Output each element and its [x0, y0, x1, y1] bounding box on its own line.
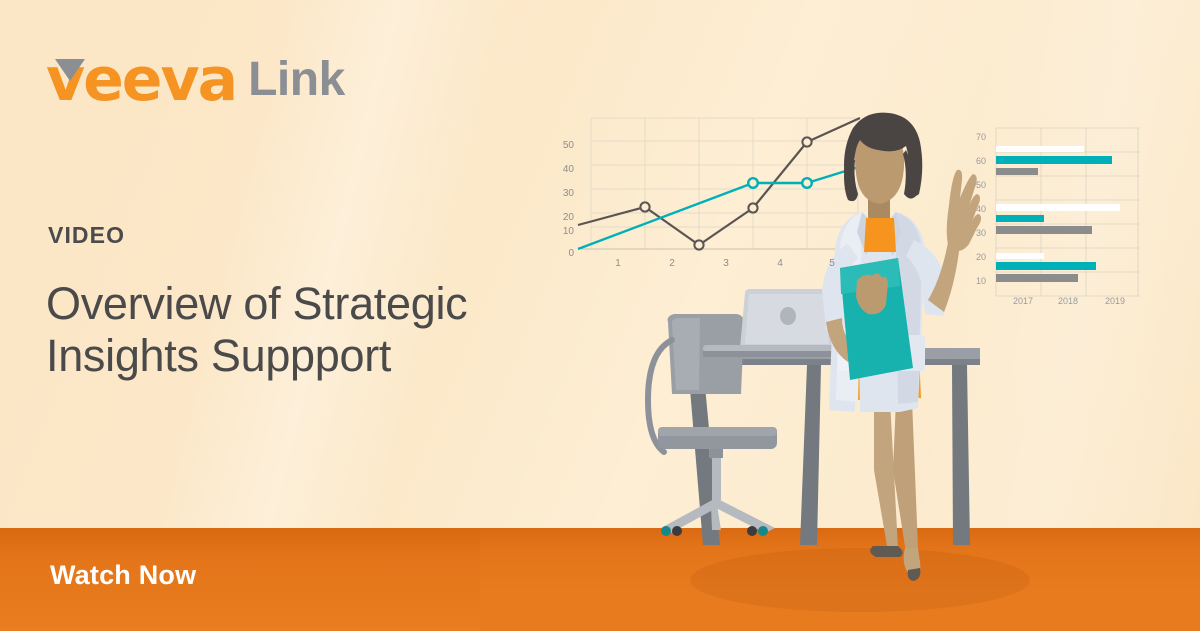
line-chart-ytick: 20: [552, 212, 574, 223]
content-type-eyebrow: VIDEO: [48, 222, 125, 249]
line-chart-ytick: 50: [552, 140, 574, 151]
video-promo-banner: 50 40 30 20 10 0 1 2 3 4 5 70 60 50 40 3…: [0, 0, 1200, 631]
line-chart-ytick: 10: [552, 226, 574, 237]
page-title: Overview of Strategic Insights Suppport: [46, 278, 566, 382]
headline-line-1: Overview of Strategic: [46, 278, 467, 329]
line-chart-xtick: 4: [770, 258, 790, 269]
line-chart-xtick: 1: [608, 258, 628, 269]
caster-wheel: [747, 526, 757, 536]
caster-wheel: [661, 526, 671, 536]
bar-chart-ytick: 20: [968, 252, 986, 262]
headline-line-2: Insights Suppport: [46, 330, 391, 381]
caster-wheel: [672, 526, 682, 536]
caster-wheel: [758, 526, 768, 536]
bar-chart-xtick: 2018: [1051, 296, 1085, 306]
line-chart-ytick: 40: [552, 164, 574, 175]
veeva-triangle-icon: [55, 59, 85, 81]
bar-chart-ytick: 70: [968, 132, 986, 142]
bar-chart-ytick: 60: [968, 156, 986, 166]
veeva-link-logo[interactable]: veeva Link: [46, 52, 345, 108]
bar-chart-ytick: 40: [968, 204, 986, 214]
veeva-wordmark: veeva: [46, 52, 236, 108]
bar-chart-xtick: 2019: [1098, 296, 1132, 306]
bar-chart-labels: 70 60 50 40 30 20 10 2017 2018 2019: [968, 124, 1143, 314]
bar-chart-xtick: 2017: [1006, 296, 1040, 306]
line-chart-ytick: 0: [552, 248, 574, 259]
line-chart-ytick: 30: [552, 188, 574, 199]
watch-now-label[interactable]: Watch Now: [50, 560, 196, 591]
bar-chart-ytick: 30: [968, 228, 986, 238]
link-product-name: Link: [248, 52, 345, 108]
line-chart-xtick: 5: [822, 258, 842, 269]
bar-chart-ytick: 10: [968, 276, 986, 286]
bar-chart-ytick: 50: [968, 180, 986, 190]
line-chart-xtick: 3: [716, 258, 736, 269]
line-chart-xtick: 2: [662, 258, 682, 269]
shoe-back: [870, 546, 902, 557]
line-chart-labels: 50 40 30 20 10 0 1 2 3 4 5: [560, 112, 870, 272]
